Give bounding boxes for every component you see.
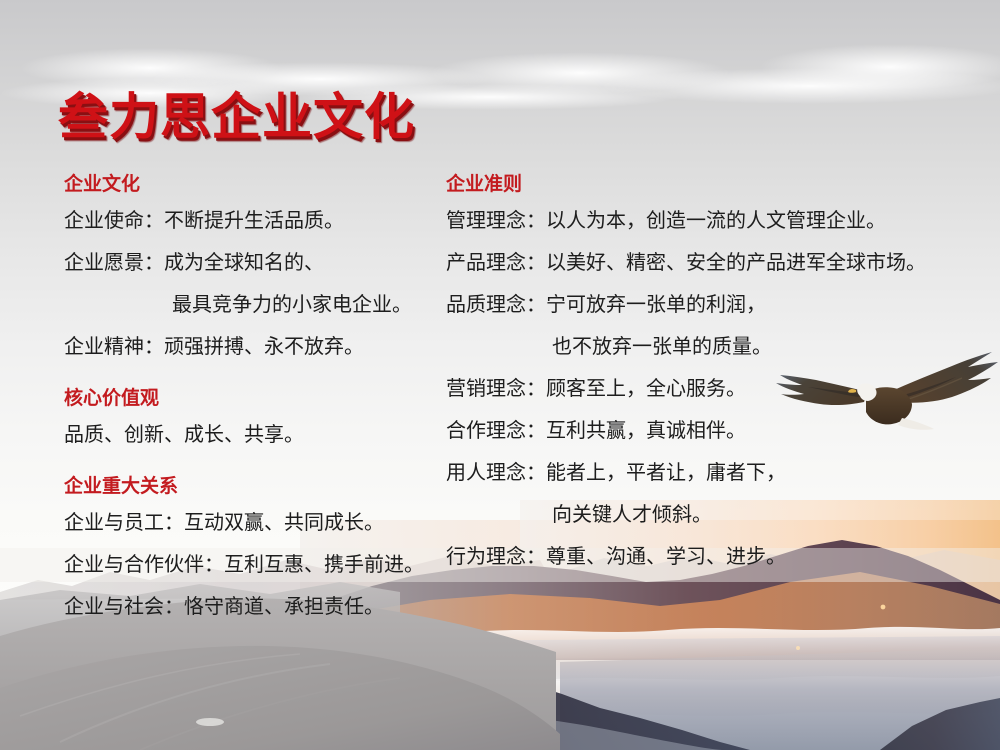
slide-canvas: 叁力思企业文化 企业文化 企业使命：不断提升生活品质。 企业愿景：成为全球知名的… [0, 0, 1000, 750]
section-spacer [64, 368, 444, 386]
slope-streak [20, 654, 300, 716]
culture-line-spirit: 企业精神：顽强拼搏、永不放弃。 [64, 326, 444, 368]
relationship-line-society: 企业与社会：恪守商道、承担责任。 [64, 586, 444, 628]
principle-line-cooperation: 合作理念：互利共赢，真诚相伴。 [446, 410, 986, 452]
valley-blue-haze [560, 648, 1000, 750]
foreground-mist [300, 714, 722, 750]
ridge-light-point [796, 646, 800, 650]
section-heading: 企业文化 [64, 172, 444, 198]
section-key-relationships: 企业重大关系 企业与员工：互动双赢、共同成长。 企业与合作伙伴：互利互惠、携手前… [64, 474, 444, 628]
slope-highlight [196, 718, 224, 726]
section-corporate-principles: 企业准则 管理理念：以人为本，创造一流的人文管理企业。 产品理念：以美好、精密、… [446, 172, 986, 578]
culture-line-vision: 企业愿景：成为全球知名的、 [64, 242, 444, 284]
slope-streak [140, 678, 400, 750]
relationship-line-employees: 企业与员工：互动双赢、共同成长。 [64, 502, 444, 544]
principle-line-talent: 用人理念：能者上，平者让，庸者下， [446, 452, 986, 494]
section-heading: 企业重大关系 [64, 474, 444, 500]
right-dark-ridge [880, 698, 1000, 750]
core-values-line: 品质、创新、成长、共享。 [64, 414, 444, 456]
near-dark-ridge [280, 676, 750, 750]
slope-streak [60, 664, 330, 742]
relationship-line-partners: 企业与合作伙伴：互利互惠、携手前进。 [64, 544, 444, 586]
page-title: 叁力思企业文化 [58, 92, 415, 142]
principle-line-management: 管理理念：以人为本，创造一流的人文管理企业。 [446, 200, 986, 242]
principle-line-behavior: 行为理念：尊重、沟通、学习、进步。 [446, 536, 986, 578]
section-heading: 企业准则 [446, 172, 986, 198]
hazy-valley [560, 648, 1000, 750]
left-near-slope [0, 646, 560, 750]
principle-line-quality-cont: 也不放弃一张单的质量。 [446, 326, 986, 368]
principle-line-marketing: 营销理念：顾客至上，全心服务。 [446, 368, 986, 410]
mist-cloud-river [260, 627, 1000, 682]
mist-cloud-lower [300, 676, 1000, 718]
principle-line-quality: 品质理念：宁可放弃一张单的利润， [446, 284, 986, 326]
section-spacer [64, 456, 444, 474]
section-corporate-culture: 企业文化 企业使命：不断提升生活品质。 企业愿景：成为全球知名的、 最具竞争力的… [64, 172, 444, 368]
principle-line-talent-cont: 向关键人才倾斜。 [446, 494, 986, 536]
section-core-values: 核心价值观 品质、创新、成长、共享。 [64, 386, 444, 456]
ridge-light-point [881, 605, 886, 610]
principle-line-product: 产品理念：以美好、精密、安全的产品进军全球市场。 [446, 242, 986, 284]
left-content-column: 企业文化 企业使命：不断提升生活品质。 企业愿景：成为全球知名的、 最具竞争力的… [64, 172, 444, 628]
right-content-column: 企业准则 管理理念：以人为本，创造一流的人文管理企业。 产品理念：以美好、精密、… [446, 172, 986, 578]
section-heading: 核心价值观 [64, 386, 444, 412]
culture-line-mission: 企业使命：不断提升生活品质。 [64, 200, 444, 242]
culture-line-vision-cont: 最具竞争力的小家电企业。 [64, 284, 444, 326]
